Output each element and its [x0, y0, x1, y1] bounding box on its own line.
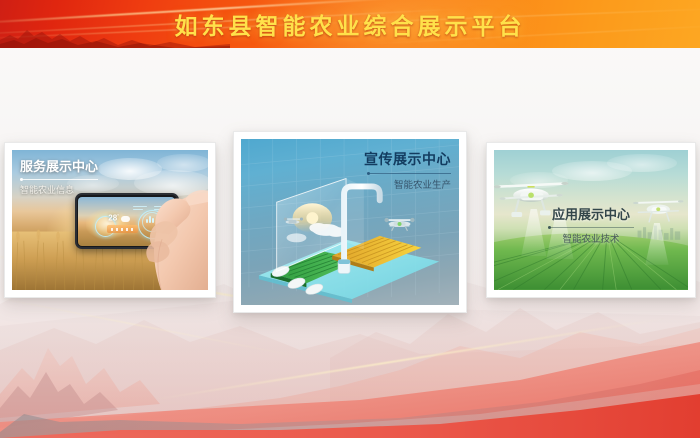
divider-dot: [548, 226, 551, 229]
divider-dot: [20, 178, 23, 181]
card-service-image: 28°: [12, 150, 208, 290]
card-application-subtitle: 智能农业技术: [494, 231, 688, 245]
card-service-divider: [20, 179, 98, 180]
card-service-text-block: 服务展示中心 智能农业信息: [20, 156, 98, 196]
card-promotion-title: 宣传展示中心: [364, 149, 451, 169]
card-application-divider: [548, 227, 634, 228]
temperature-value: 28: [108, 213, 117, 222]
card-application-display-center[interactable]: 应用展示中心 智能农业技术: [486, 142, 696, 298]
page-banner: 如东县智能农业综合展示平台: [0, 0, 700, 48]
card-promotion-image: 宣传展示中心 智能农业生产: [241, 139, 459, 305]
hand-holding-phone: [126, 167, 208, 290]
card-service-subtitle: 智能农业信息: [20, 183, 98, 196]
cloud: [607, 154, 677, 172]
card-promotion-text-block: 宣传展示中心 智能农业生产: [364, 149, 451, 191]
temperature-unit: °: [117, 213, 119, 218]
card-application-text-block: 应用展示中心 智能农业技术: [494, 204, 688, 245]
card-application-title: 应用展示中心: [494, 204, 688, 223]
temperature-readout: 28°: [108, 213, 119, 223]
card-service-title: 服务展示中心: [20, 156, 98, 175]
card-application-image: 应用展示中心 智能农业技术: [494, 150, 688, 290]
platform-stage: 如东县智能农业综合展示平台: [0, 0, 700, 438]
divider-dot: [367, 172, 370, 175]
card-promotion-display-center[interactable]: 宣传展示中心 智能农业生产: [233, 131, 467, 313]
card-service-display-center[interactable]: 28°: [4, 142, 216, 298]
card-promotion-subtitle: 智能农业生产: [364, 177, 451, 191]
page-title: 如东县智能农业综合展示平台: [0, 0, 700, 48]
drone-large-right: [384, 218, 414, 231]
card-promotion-divider: [367, 173, 451, 174]
